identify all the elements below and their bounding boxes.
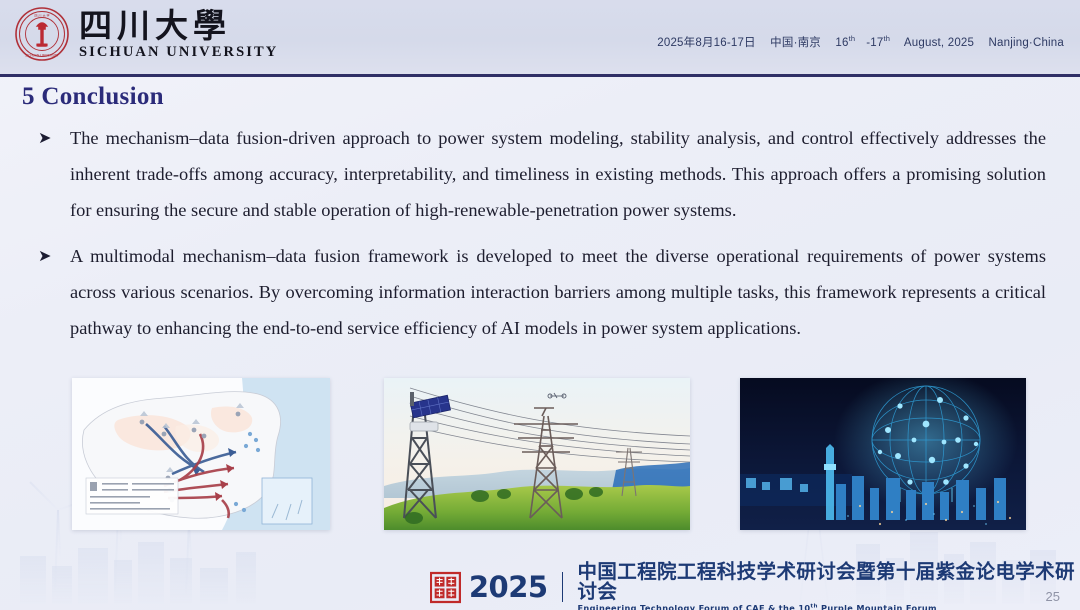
brand-name-cn: 四川大學 <box>79 9 278 42</box>
red-square-seal-icon <box>430 571 461 604</box>
conference-date-cn: 2025年8月16-17日 <box>657 37 756 49</box>
page-title: 5 Conclusion <box>22 83 164 111</box>
conference-place-en: Nanjing·China <box>989 37 1064 49</box>
list-item-text: The mechanism–data fusion-driven approac… <box>70 120 1046 228</box>
svg-text:SICHUAN UNIVERSITY: SICHUAN UNIVERSITY <box>25 53 59 57</box>
footer-year: 2025 <box>469 573 548 602</box>
smart-grid-night-city-network <box>740 378 1026 530</box>
list-item: ➤ A multimodal mechanism–data fusion fra… <box>34 238 1046 346</box>
list-item-text: A multimodal mechanism–data fusion frame… <box>70 238 1046 346</box>
page-number: 25 <box>1046 589 1060 604</box>
list-item: ➤ The mechanism–data fusion-driven appro… <box>34 120 1046 228</box>
conference-footer-banner: 2025 中国工程院工程科技学术研讨会暨第十届紫金论电学术研讨会 Enginee… <box>0 558 1080 610</box>
arrow-bullet-icon: ➤ <box>38 120 51 156</box>
brand-name-en: SICHUAN UNIVERSITY <box>79 45 278 60</box>
conference-place-cn: 中国·南京 <box>770 37 821 49</box>
arrow-bullet-icon: ➤ <box>38 238 51 274</box>
transmission-tower-monitoring-photo <box>384 378 690 530</box>
sichuan-university-seal-icon: 四 川 大 学 SICHUAN UNIVERSITY <box>14 6 70 62</box>
china-power-transmission-map <box>72 378 330 530</box>
svg-text:四 川 大 学: 四 川 大 学 <box>34 12 49 17</box>
conclusion-bullet-list: ➤ The mechanism–data fusion-driven appro… <box>34 120 1046 356</box>
presentation-slide: 四 川 大 学 SICHUAN UNIVERSITY 四川大學 SICHUAN … <box>0 0 1080 610</box>
footer-title-en: Engineering Technology Forum of CAE & th… <box>577 604 1080 610</box>
header-divider <box>0 74 1080 77</box>
image-strip <box>0 378 1080 530</box>
university-brand: 四 川 大 学 SICHUAN UNIVERSITY 四川大學 SICHUAN … <box>14 6 278 62</box>
conference-date-en: 16th-17th August, 2025 <box>835 37 974 49</box>
conference-meta: 2025年8月16-17日 中国·南京 16th-17th August, 20… <box>657 34 1064 50</box>
slide-header: 四 川 大 学 SICHUAN UNIVERSITY 四川大學 SICHUAN … <box>0 0 1080 74</box>
footer-divider <box>562 572 564 602</box>
footer-title-cn: 中国工程院工程科技学术研讨会暨第十届紫金论电学术研讨会 <box>577 562 1080 601</box>
